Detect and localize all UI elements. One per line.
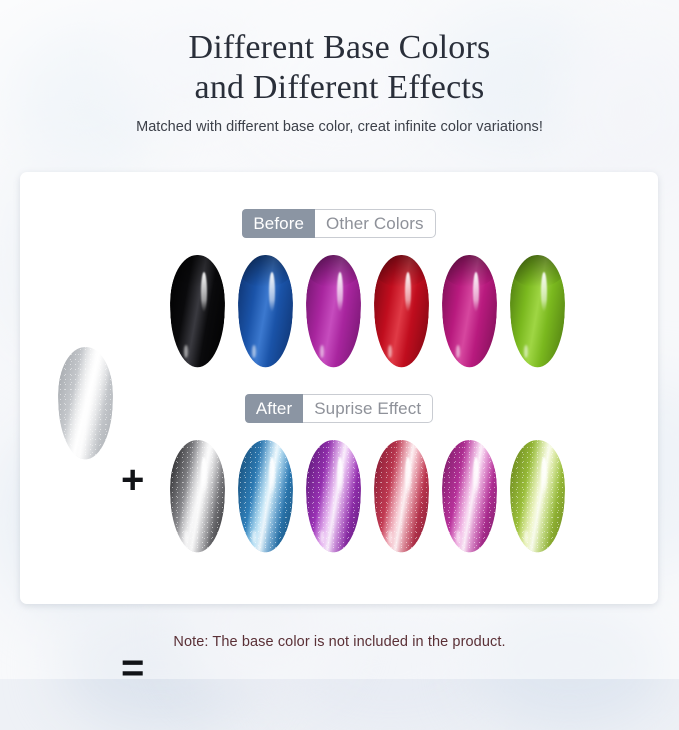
suprise-effect-badge-label: Suprise Effect [303, 394, 433, 423]
page-subtitle: Matched with different base color, creat… [0, 119, 679, 135]
nail-highlight [269, 457, 275, 497]
nail-highlight [201, 272, 207, 312]
after-nail-blue [238, 440, 293, 562]
nail-body [510, 440, 565, 562]
plus-icon: + [121, 460, 144, 500]
nail-body [238, 255, 293, 377]
after-badge-label: After [245, 394, 303, 423]
nail-body [374, 440, 429, 562]
page-title-line-1: Different Base Colors [0, 28, 679, 68]
nail-highlight [269, 272, 275, 312]
nail-body [238, 440, 293, 562]
cat-eye-stripe [170, 440, 225, 562]
before-nail-blue [238, 255, 293, 377]
before-nail-purple [306, 255, 361, 377]
after-nail-magenta [442, 440, 497, 562]
nail-highlight [473, 272, 479, 312]
comparison-card: Before Other Colors After Suprise Effect… [20, 172, 658, 604]
before-badge-label: Before [242, 209, 315, 238]
nail-body [374, 255, 429, 377]
other-colors-badge-label: Other Colors [315, 209, 436, 238]
nail-body [306, 440, 361, 562]
nail-highlight [405, 272, 411, 312]
before-nail-black [170, 255, 225, 377]
before-badge-row: Before Other Colors [20, 209, 658, 238]
cat-eye-stripe [306, 440, 361, 562]
page-title-line-2: and Different Effects [0, 68, 679, 108]
after-badge-row: After Suprise Effect [20, 394, 658, 423]
nail-top-shade [442, 255, 497, 287]
product-note: Note: The base color is not included in … [0, 634, 679, 650]
nail-highlight [201, 457, 207, 497]
nail-body [170, 440, 225, 562]
before-nail-green [510, 255, 565, 377]
nail-highlight [337, 272, 343, 312]
before-nail-magenta [442, 255, 497, 377]
cat-eye-stripe [374, 440, 429, 562]
base-silver-nail [58, 347, 113, 469]
cat-eye-stripe [238, 440, 293, 562]
nail-body [510, 255, 565, 377]
nail-highlight [473, 457, 479, 497]
after-nail-silver-black [170, 440, 225, 562]
equals-icon: = [121, 648, 144, 688]
nail-top-shade [238, 255, 293, 287]
nail-highlight [541, 272, 547, 312]
nail-body [442, 255, 497, 377]
before-nail-red [374, 255, 429, 377]
nail-highlight [541, 457, 547, 497]
nail-body [58, 347, 113, 469]
nail-top-shade [510, 255, 565, 287]
nail-body [306, 255, 361, 377]
nail-top-shade [306, 255, 361, 287]
nail-body [170, 255, 225, 377]
after-nail-red-pink [374, 440, 429, 562]
nail-body [442, 440, 497, 562]
nail-top-shade [374, 255, 429, 287]
nail-highlight [337, 457, 343, 497]
cat-eye-stripe [510, 440, 565, 562]
header: Different Base Colors and Different Effe… [0, 28, 679, 135]
cat-eye-stripe [442, 440, 497, 562]
nail-top-shade [170, 255, 225, 287]
after-nail-yellow-green [510, 440, 565, 562]
cat-eye-stripe [58, 347, 113, 469]
after-nail-purple [306, 440, 361, 562]
nail-highlight [405, 457, 411, 497]
